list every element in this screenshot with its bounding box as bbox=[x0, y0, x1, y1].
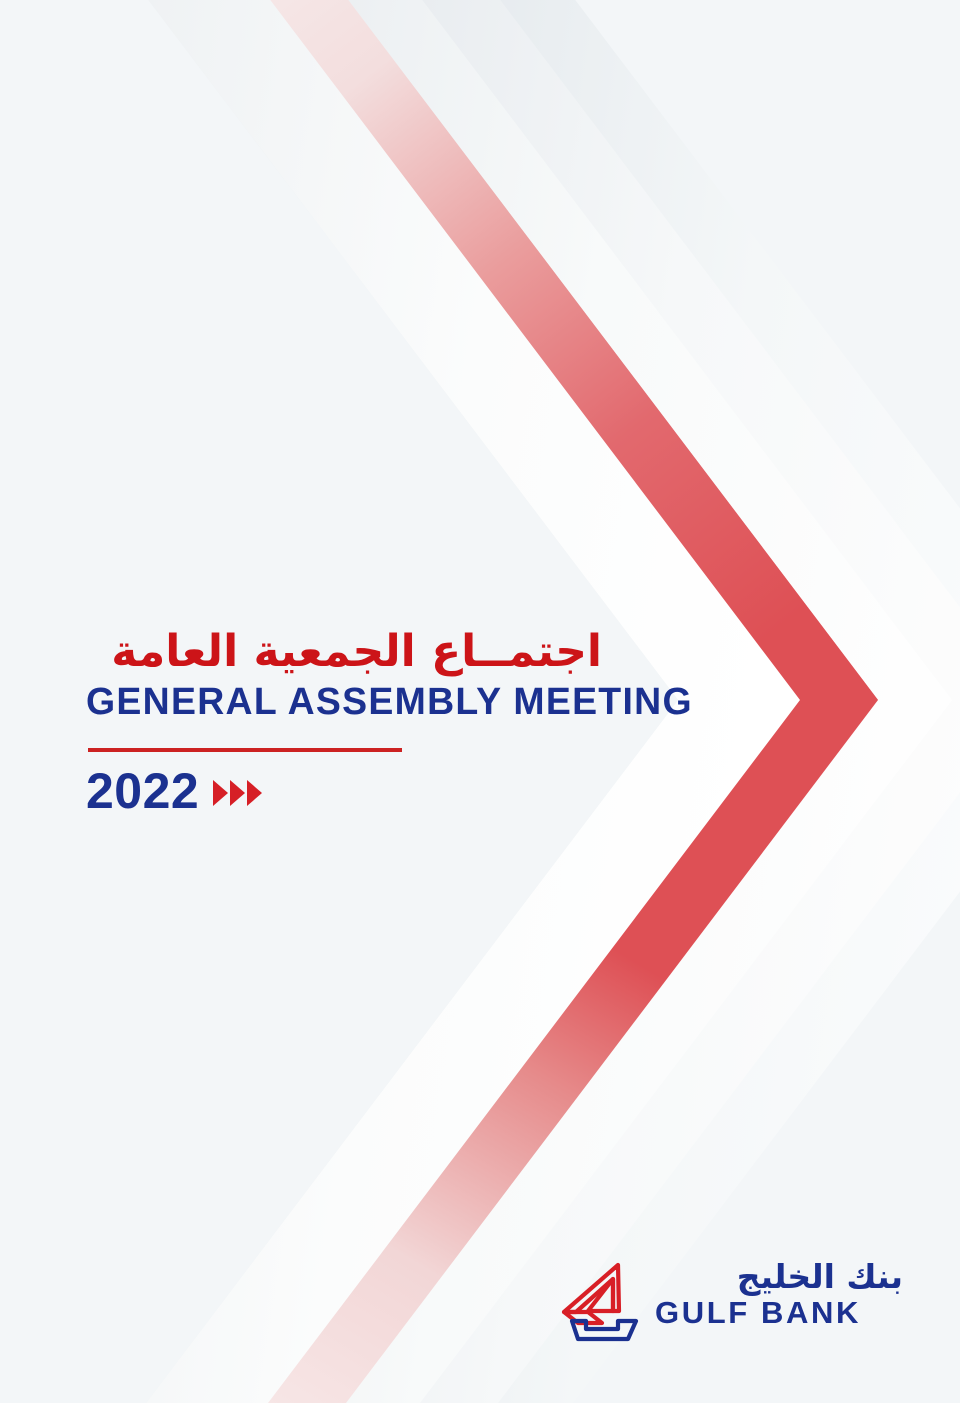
year-row: 2022 bbox=[86, 766, 666, 816]
page-title-arabic: اجتمــاع الجمعية العامة bbox=[86, 626, 602, 678]
title-block: اجتمــاع الجمعية العامة GENERAL ASSEMBLY… bbox=[86, 626, 666, 816]
arrow-right-icon bbox=[247, 780, 262, 806]
page-title-english: GENERAL ASSEMBLY MEETING bbox=[86, 682, 657, 724]
logo-wordmark: بنك الخليج GULF BANK bbox=[655, 1259, 903, 1329]
title-divider bbox=[88, 748, 402, 752]
logo-arabic-text: بنك الخليج bbox=[655, 1259, 903, 1295]
year-label: 2022 bbox=[86, 766, 199, 816]
gulf-bank-dhow-sailboat-icon bbox=[558, 1259, 642, 1347]
gulf-bank-logo: بنك الخليج GULF BANK bbox=[558, 1259, 906, 1351]
arrow-right-icon bbox=[230, 780, 245, 806]
year-arrows bbox=[213, 780, 264, 806]
logo-english-text: GULF BANK bbox=[655, 1296, 903, 1329]
arrow-right-icon bbox=[213, 780, 228, 806]
cover-page: اجتمــاع الجمعية العامة GENERAL ASSEMBLY… bbox=[0, 0, 960, 1403]
